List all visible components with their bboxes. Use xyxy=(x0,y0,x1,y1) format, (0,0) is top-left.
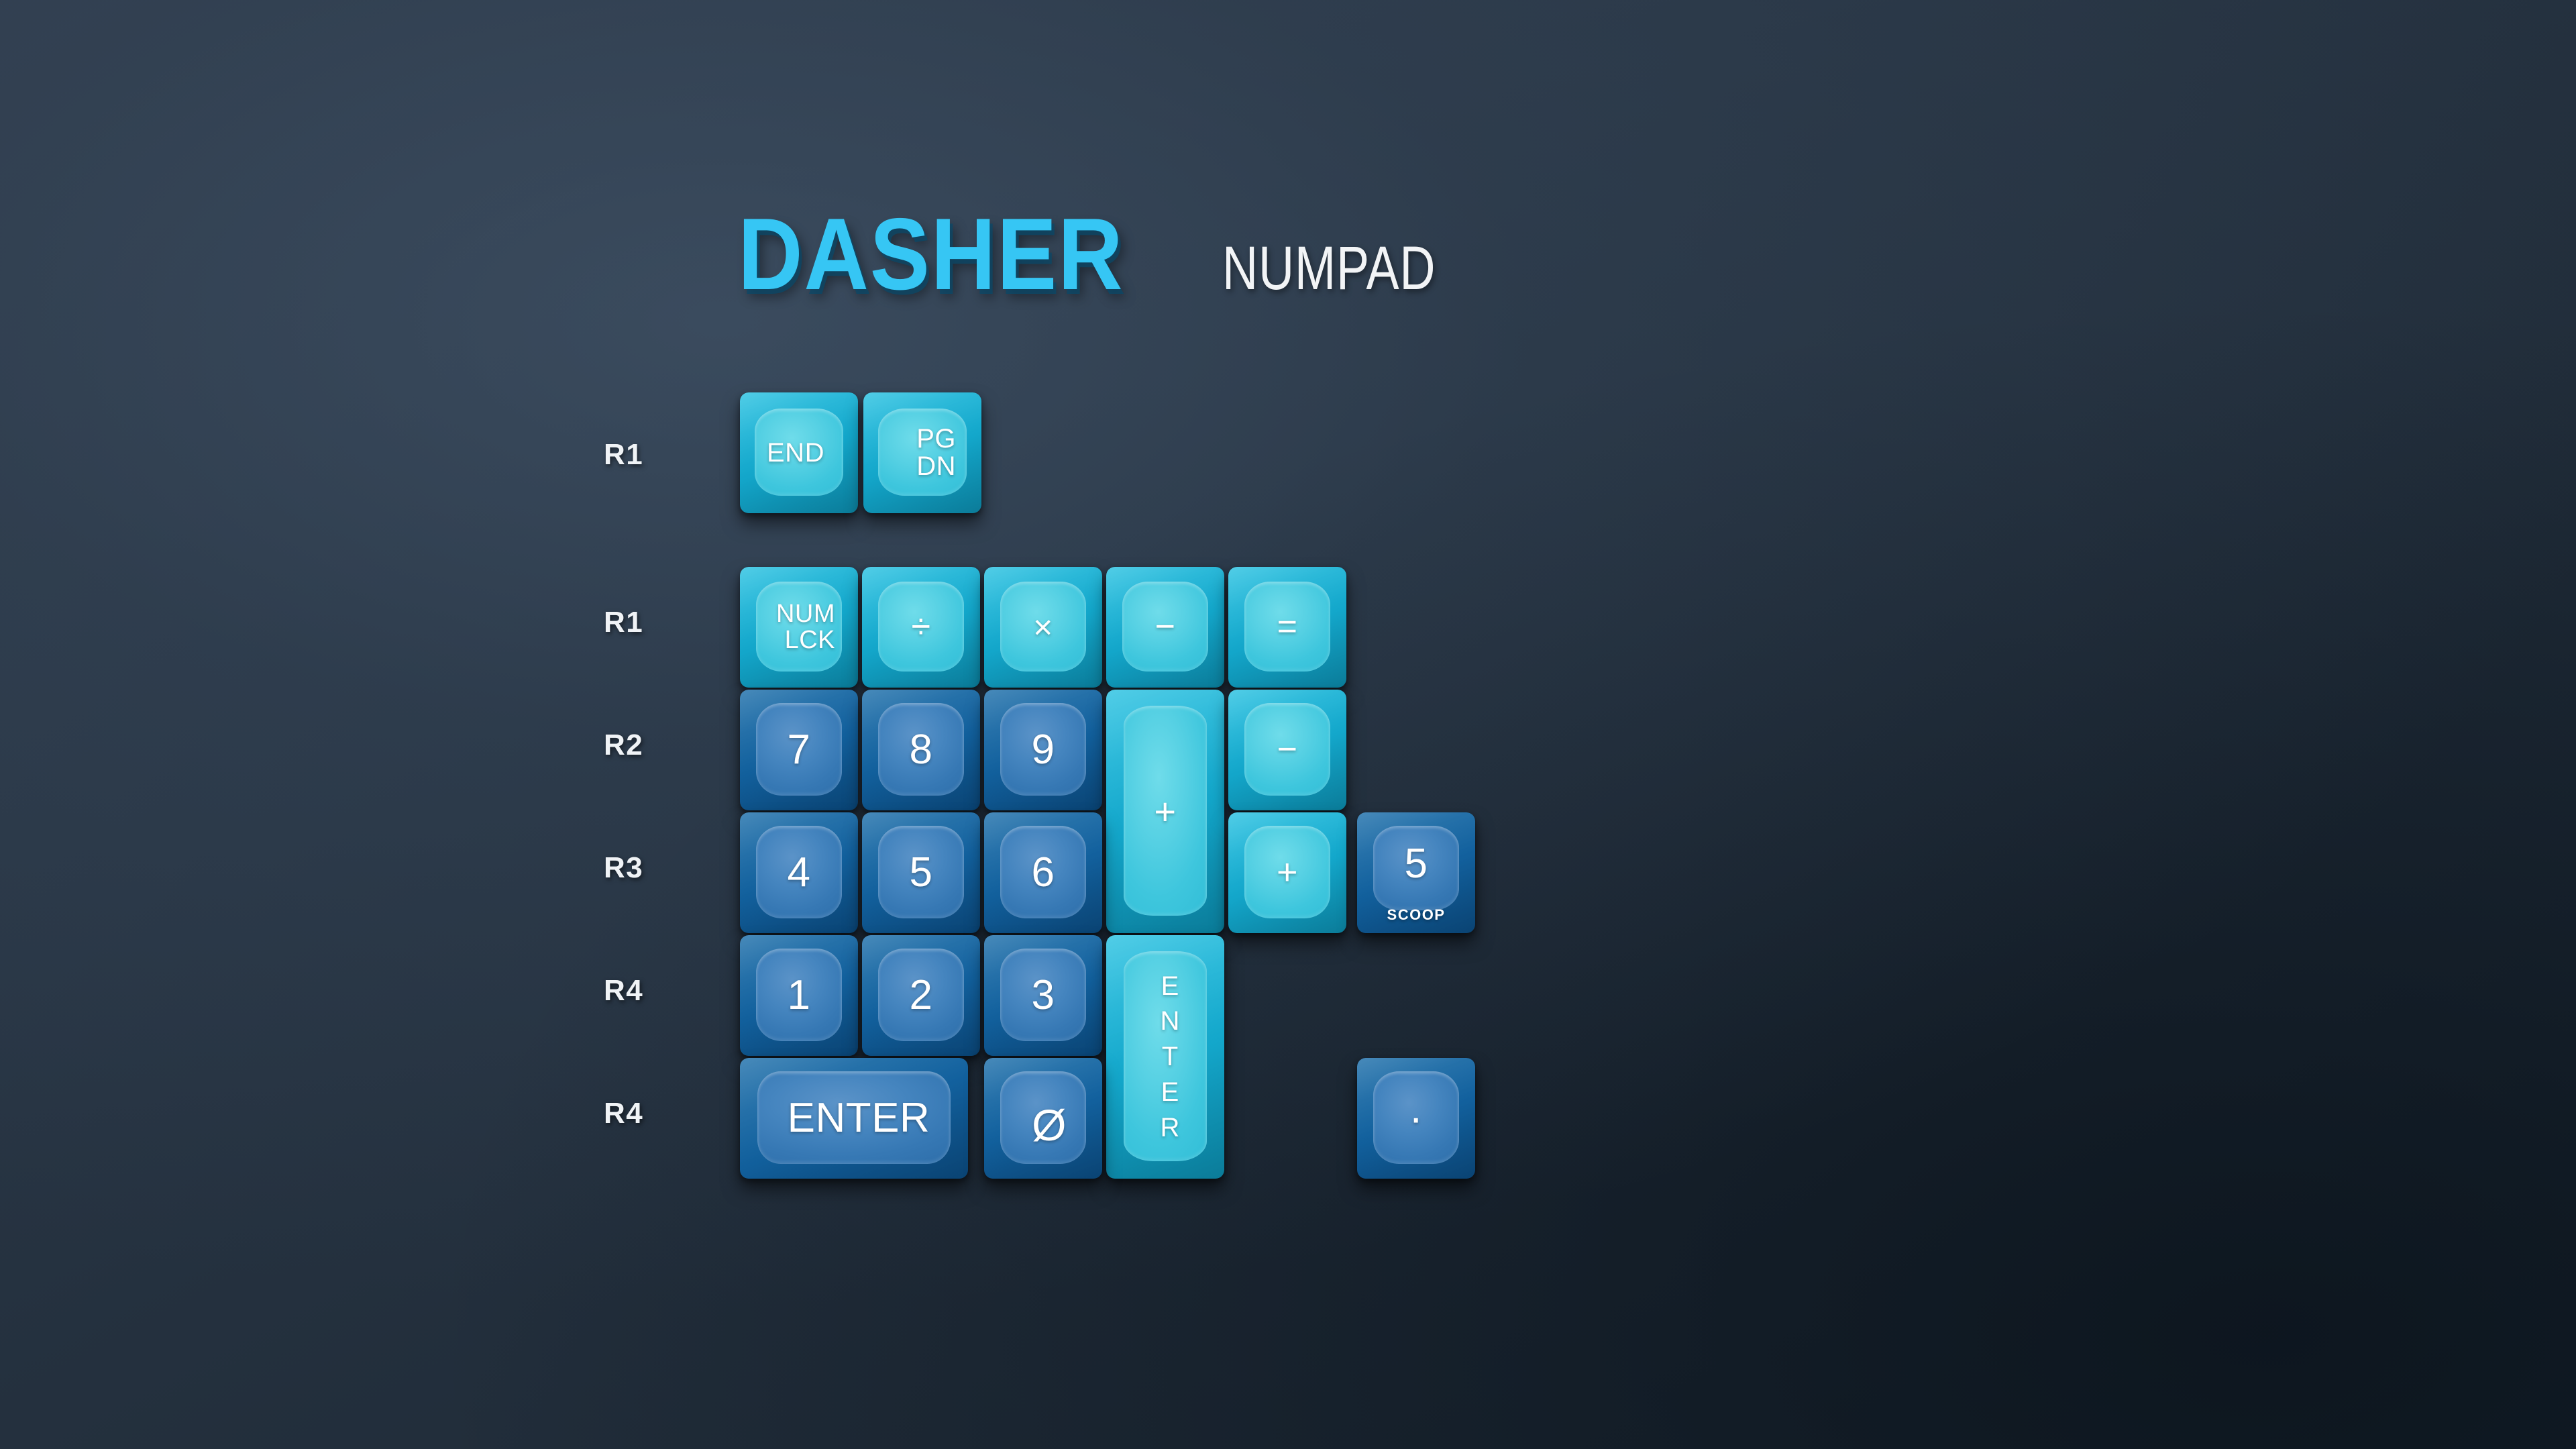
keycap-legend-minus-top: − xyxy=(1106,567,1224,688)
keycap-legend-enter: ENTER xyxy=(1106,935,1224,1179)
row-label-r4: R4 xyxy=(604,974,643,1008)
row-label-r1: R1 xyxy=(604,606,643,639)
keycap-page-down[interactable]: PGDN xyxy=(863,392,981,513)
keycap-legend-4: 4 xyxy=(740,812,858,933)
keycap-numpad-1[interactable]: 1 xyxy=(740,935,858,1056)
keycap-render-canvas: DASHER NUMPAD R1 R1 R2 R3 R4 R4 END PGDN… xyxy=(0,0,2576,1449)
keycap-legend-plus: + xyxy=(1228,812,1346,933)
keycap-legend-1: 1 xyxy=(740,935,858,1056)
keycap-plus-2u[interactable]: + xyxy=(1106,690,1224,933)
keycap-legend-equals: = xyxy=(1228,567,1346,688)
keycap-legend-0-2u: ENTER xyxy=(740,1058,968,1179)
keycap-divide[interactable]: ÷ xyxy=(862,567,980,688)
keycap-legend-9: 9 xyxy=(984,690,1102,810)
keycap-numpad-5[interactable]: 5 xyxy=(862,812,980,933)
keycap-num-lock[interactable]: NUMLCK xyxy=(740,567,858,688)
keycap-legend-6: 6 xyxy=(984,812,1102,933)
keycap-numpad-3[interactable]: 3 xyxy=(984,935,1102,1056)
keycap-numpad-0[interactable]: · xyxy=(1357,1058,1475,1179)
keycap-legend-plus-2u: + xyxy=(1106,690,1224,933)
keycap-numpad-period[interactable]: Ø xyxy=(984,1058,1102,1179)
title-block: DASHER NUMPAD xyxy=(738,196,1489,313)
keycap-numpad-5-scoop[interactable]: 5 SCOOP xyxy=(1357,812,1475,933)
row-label-r4-bottom: R4 xyxy=(604,1097,643,1130)
keycap-numpad-0-2u[interactable]: ENTER xyxy=(740,1058,968,1179)
enter-letter: T xyxy=(1162,1039,1178,1075)
keycap-end[interactable]: END xyxy=(740,392,858,513)
row-label-r3: R3 xyxy=(604,851,643,885)
enter-letter: R xyxy=(1161,1110,1180,1146)
keycap-sublegend-scoop: SCOOP xyxy=(1357,906,1475,924)
keycap-numpad-4[interactable]: 4 xyxy=(740,812,858,933)
keycap-equals[interactable]: = xyxy=(1228,567,1346,688)
keycap-legend-3: 3 xyxy=(984,935,1102,1056)
enter-letter: E xyxy=(1161,969,1179,1004)
enter-letter: E xyxy=(1161,1075,1179,1110)
keycap-numpad-2[interactable]: 2 xyxy=(862,935,980,1056)
keycap-plus[interactable]: + xyxy=(1228,812,1346,933)
keycap-legend-divide: ÷ xyxy=(862,567,980,688)
keycap-enter[interactable]: ENTER xyxy=(1106,935,1224,1179)
brand-title: DASHER xyxy=(738,196,1124,313)
keycap-minus[interactable]: − xyxy=(1228,690,1346,810)
keycap-legend-5: 5 xyxy=(862,812,980,933)
keycap-legend-num-lock: NUMLCK xyxy=(740,567,858,688)
keycap-numpad-9[interactable]: 9 xyxy=(984,690,1102,810)
row-label-r2: R2 xyxy=(604,729,643,762)
enter-letter: N xyxy=(1161,1004,1180,1039)
keycap-legend-2: 2 xyxy=(862,935,980,1056)
keycap-legend-period: Ø xyxy=(984,1058,1102,1179)
keycap-numpad-6[interactable]: 6 xyxy=(984,812,1102,933)
kit-name-title: NUMPAD xyxy=(1222,233,1436,304)
keycap-legend-minus: − xyxy=(1228,690,1346,810)
keycap-multiply[interactable]: × xyxy=(984,567,1102,688)
keycap-legend-0: · xyxy=(1357,1058,1475,1179)
keycap-legend-page-down: PGDN xyxy=(863,392,981,513)
row-label-r1-top: R1 xyxy=(604,438,643,472)
keycap-legend-end: END xyxy=(740,392,858,513)
keycap-legend-8: 8 xyxy=(862,690,980,810)
keycap-minus-top[interactable]: − xyxy=(1106,567,1224,688)
keycap-numpad-8[interactable]: 8 xyxy=(862,690,980,810)
keycap-legend-7: 7 xyxy=(740,690,858,810)
keycap-numpad-7[interactable]: 7 xyxy=(740,690,858,810)
keycap-legend-multiply: × xyxy=(984,567,1102,688)
